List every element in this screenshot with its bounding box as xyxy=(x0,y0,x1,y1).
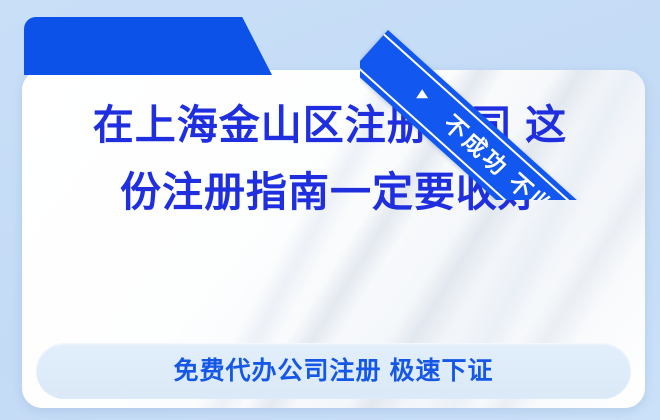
promo-banner: 上海壹隆 在上海金山区注册公司 这 份注册指南一定要收好 免费代办公司注册 极速… xyxy=(0,0,660,420)
brand-tab[interactable] xyxy=(24,17,272,75)
footer-cta-pill[interactable]: 免费代办公司注册 极速下证 xyxy=(36,343,631,399)
triangle-up-icon xyxy=(416,89,428,98)
headline: 在上海金山区注册公司 这 份注册指南一定要收好 xyxy=(0,92,660,226)
headline-line-1: 在上海金山区注册公司 这 xyxy=(0,92,660,159)
footer-cta-label: 免费代办公司注册 极速下证 xyxy=(36,356,631,386)
